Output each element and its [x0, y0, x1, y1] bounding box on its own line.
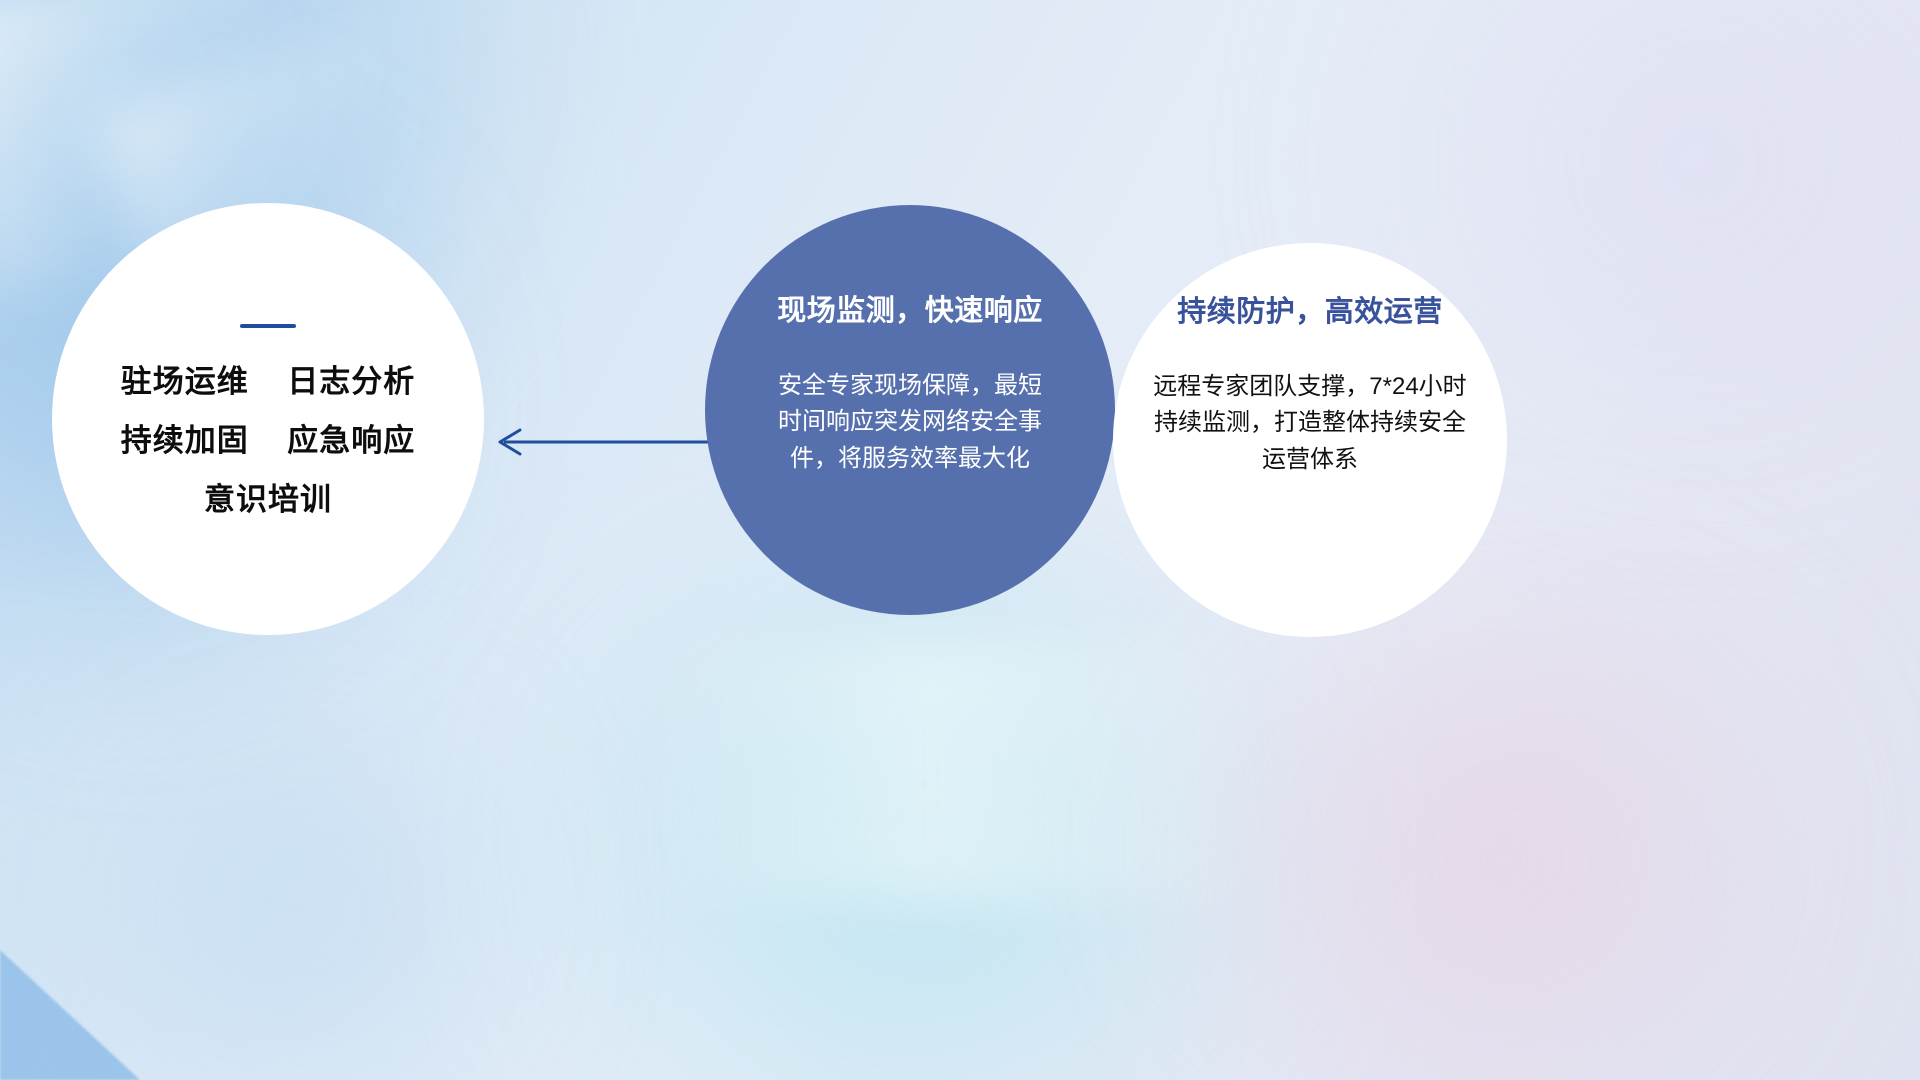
divider-dash-icon [240, 324, 296, 328]
left-circle-line-2: 持续加固 应急响应 [121, 425, 415, 456]
continuous-protection-circle[interactable]: 持续防护，高效运营 远程专家团队支撑，7*24小时持续监测，打造整体持续安全运营… [1113, 243, 1507, 637]
onsite-monitoring-title: 现场监测，快速响应 [777, 297, 1043, 326]
continuous-protection-title: 持续防护，高效运营 [1177, 298, 1443, 327]
left-circle-text-block: 驻场运维 日志分析 持续加固 应急响应 意识培训 [121, 366, 415, 515]
left-circle-line-1: 驻场运维 日志分析 [121, 366, 415, 397]
continuous-protection-body: 远程专家团队支撑，7*24小时持续监测，打造整体持续安全运营体系 [1145, 369, 1475, 478]
flow-arrow-left [480, 410, 740, 480]
onsite-monitoring-circle[interactable]: 现场监测，快速响应 安全专家现场保障，最短时间响应突发网络安全事件，将服务效率最… [705, 205, 1115, 615]
background-corner-wedge [0, 950, 140, 1080]
left-capability-circle[interactable]: 驻场运维 日志分析 持续加固 应急响应 意识培训 [52, 203, 484, 635]
onsite-monitoring-body: 安全专家现场保障，最短时间响应突发网络安全事件，将服务效率最大化 [775, 368, 1045, 477]
left-circle-line-3: 意识培训 [204, 484, 332, 515]
slide-canvas: 驻场运维 日志分析 持续加固 应急响应 意识培训 现场监测，快速响应 安全专家现… [0, 0, 1920, 1080]
